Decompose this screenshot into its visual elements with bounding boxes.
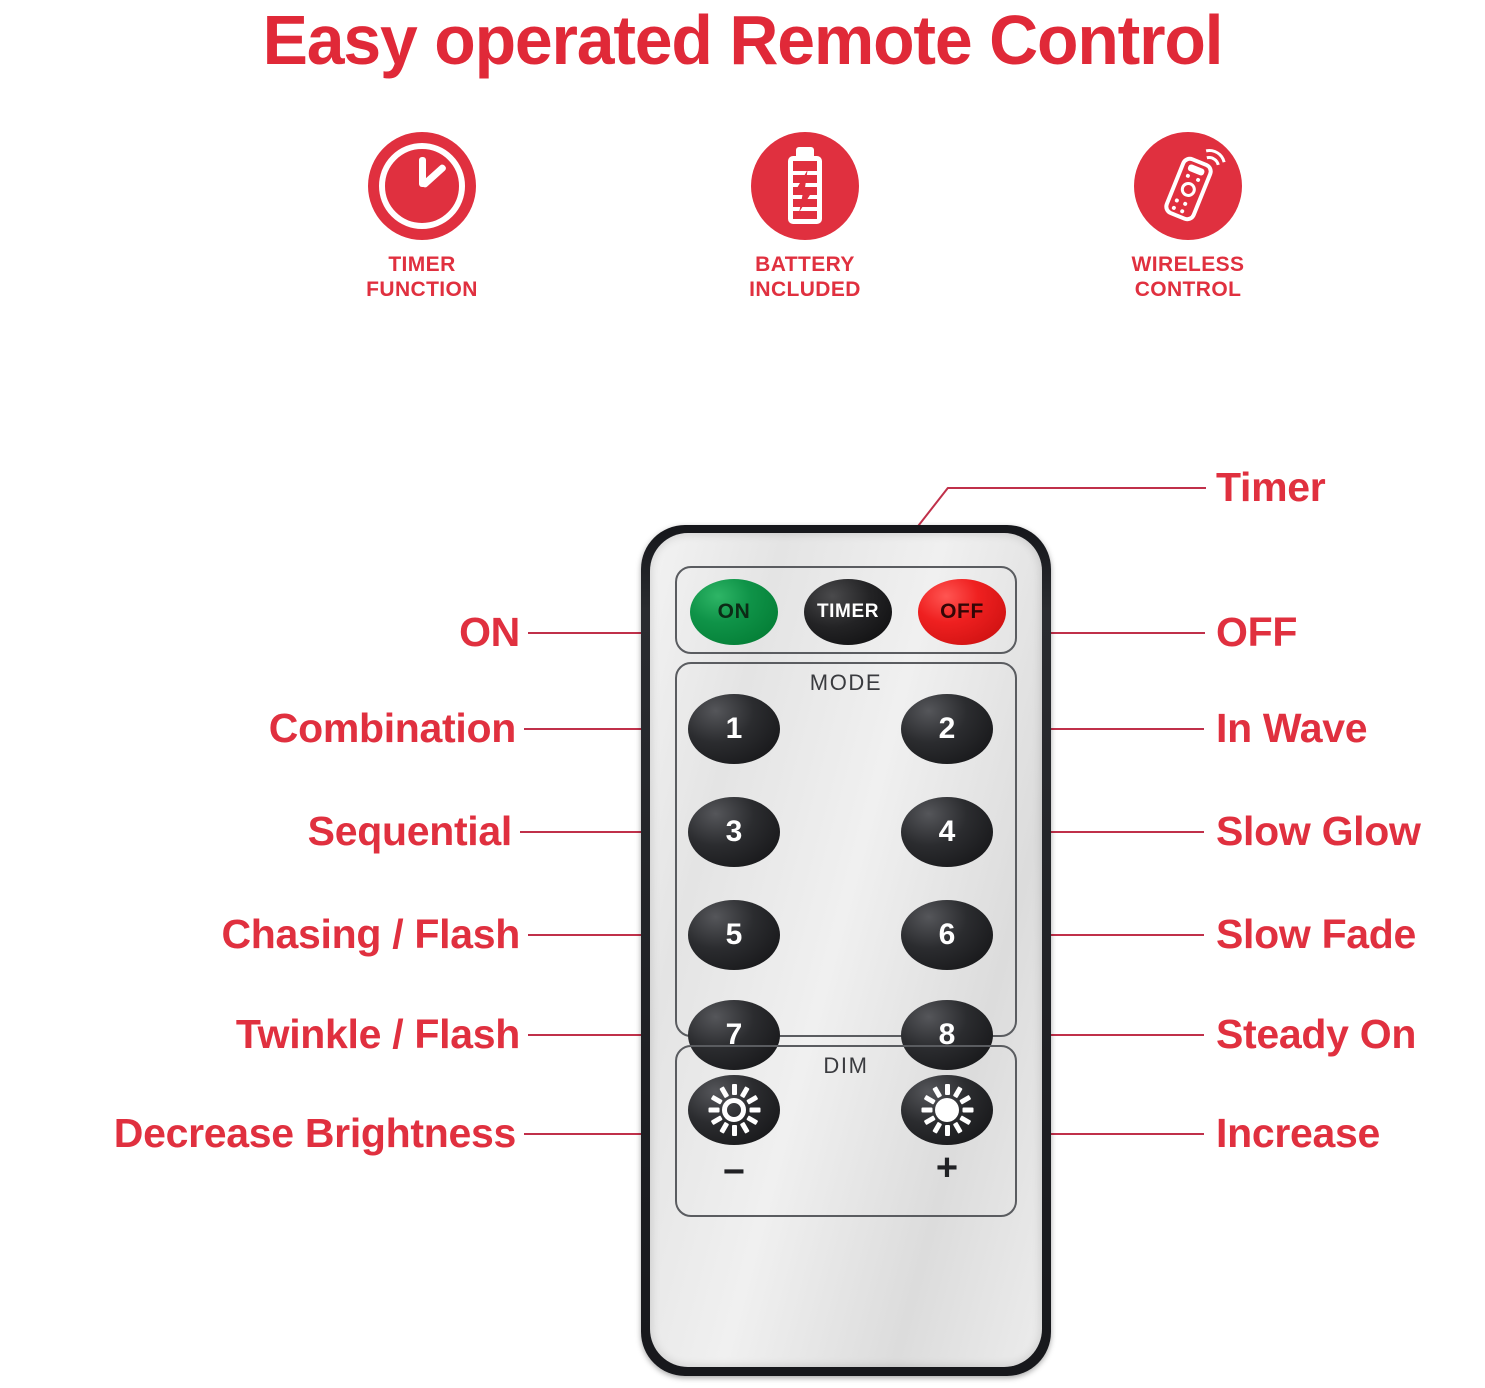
mode-2-button[interactable]: 2: [901, 694, 993, 764]
mode-panel-label: MODE: [677, 670, 1015, 696]
mode-4-button[interactable]: 4: [901, 797, 993, 867]
leader-timer: [948, 487, 1206, 489]
feature-label-line1: WIRELESS: [1132, 253, 1245, 276]
page-title: Easy operated Remote Control: [22, 0, 1462, 82]
callout-slow-fade: Slow Fade: [1216, 911, 1416, 957]
sun-bright-icon: [921, 1084, 973, 1136]
mode-5-label: 5: [726, 918, 743, 952]
sun-core: [935, 1098, 959, 1122]
battery-icon: [751, 132, 859, 240]
dim-panel: DIM: [675, 1045, 1017, 1217]
timer-button-label: TIMER: [817, 601, 879, 623]
callout-on: ON: [180, 609, 520, 655]
dim-plus-symbol: +: [917, 1147, 977, 1190]
feature-label: BATTERY INCLUDED: [685, 252, 925, 302]
mode-panel: MODE 1 2 3 4 5 6 7 8: [675, 662, 1017, 1037]
callout-increase: Increase: [1216, 1110, 1380, 1156]
feature-label-line2: FUNCTION: [366, 278, 478, 301]
feature-label: WIRELESS CONTROL: [1068, 252, 1308, 302]
feature-wireless-control: WIRELESS CONTROL: [1068, 132, 1308, 302]
mode-4-label: 4: [939, 815, 956, 849]
sun-dim-icon: [708, 1084, 760, 1136]
mode-1-label: 1: [726, 712, 743, 746]
mode-6-button[interactable]: 6: [901, 900, 993, 970]
dim-minus-symbol: −: [704, 1151, 764, 1194]
mode-3-button[interactable]: 3: [688, 797, 780, 867]
callout-off: OFF: [1216, 609, 1297, 655]
off-button-label: OFF: [940, 600, 984, 624]
mode-1-button[interactable]: 1: [688, 694, 780, 764]
feature-label-line2: INCLUDED: [749, 278, 861, 301]
callout-timer: Timer: [1216, 464, 1325, 510]
power-panel: ON TIMER OFF: [675, 566, 1017, 654]
remote-faceplate: ON TIMER OFF MODE 1 2 3 4: [650, 533, 1042, 1367]
dim-up-button[interactable]: [901, 1075, 993, 1145]
remote-control: ON TIMER OFF MODE 1 2 3 4: [641, 525, 1051, 1376]
off-button[interactable]: OFF: [918, 579, 1006, 645]
feature-badges: TIMER FUNCTION BATTERY INCLUDED: [0, 132, 1485, 322]
callout-twinkle-flash: Twinkle / Flash: [100, 1011, 520, 1057]
remote-signal-icon: [1134, 132, 1242, 240]
sun-core: [722, 1098, 746, 1122]
battery-cap: [796, 147, 814, 156]
on-button-label: ON: [718, 600, 751, 624]
mode-2-label: 2: [939, 712, 956, 746]
feature-timer-function: TIMER FUNCTION: [302, 132, 542, 302]
timer-button[interactable]: TIMER: [804, 579, 892, 645]
callout-in-wave: In Wave: [1216, 705, 1367, 751]
callout-chasing-flash: Chasing / Flash: [100, 911, 520, 957]
mode-6-label: 6: [939, 918, 956, 952]
callout-slow-glow: Slow Glow: [1216, 808, 1421, 854]
callout-steady-on: Steady On: [1216, 1011, 1416, 1057]
on-button[interactable]: ON: [690, 579, 778, 645]
feature-label-line1: BATTERY: [755, 253, 855, 276]
mode-3-label: 3: [726, 815, 743, 849]
clock-icon: [368, 132, 476, 240]
feature-label-line2: CONTROL: [1135, 278, 1242, 301]
feature-label: TIMER FUNCTION: [302, 252, 542, 302]
feature-label-line1: TIMER: [388, 253, 455, 276]
callout-combination: Combination: [180, 705, 516, 751]
infographic-canvas: Easy operated Remote Control TIMER FUNCT…: [0, 0, 1485, 1388]
mode-5-button[interactable]: 5: [688, 900, 780, 970]
callout-sequential: Sequential: [180, 808, 512, 854]
feature-battery-included: BATTERY INCLUDED: [685, 132, 925, 302]
dim-down-button[interactable]: [688, 1075, 780, 1145]
callout-decrease-brightness: Decrease Brightness: [0, 1110, 516, 1156]
